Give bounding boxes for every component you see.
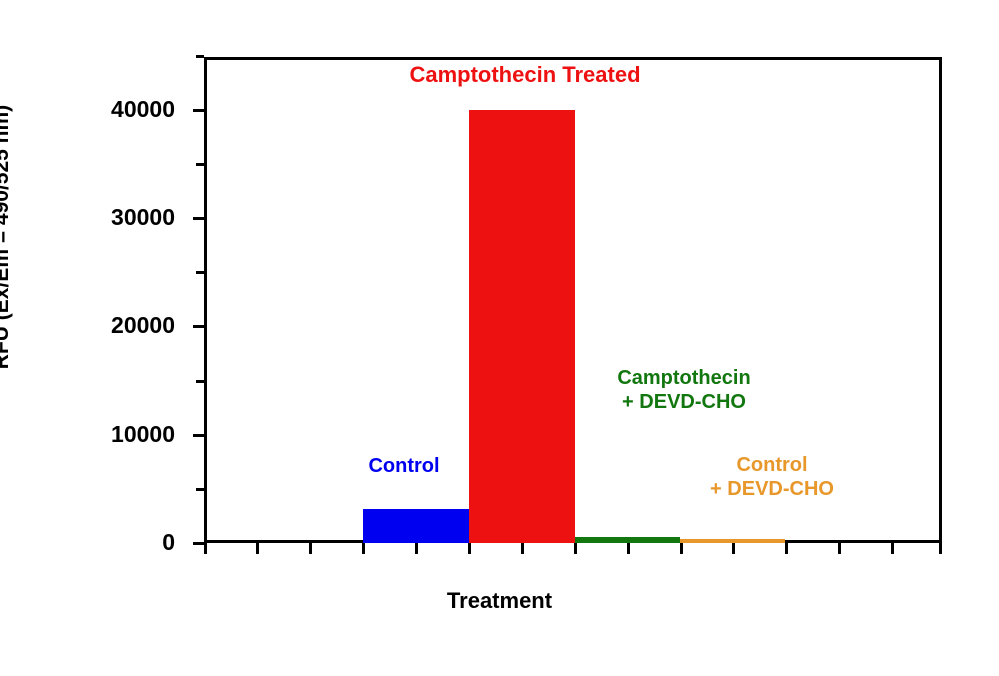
- y-minor-tick-35000: [196, 163, 204, 166]
- x-tick-4: [415, 543, 418, 554]
- y-minor-tick-15000: [196, 380, 204, 383]
- y-major-tick-0: [193, 542, 204, 545]
- y-tick-label-0: 0: [55, 531, 175, 554]
- series-label-camptothecin-devd-cho: Camptothecin + DEVD-CHO: [579, 367, 789, 414]
- x-tick-1: [256, 543, 259, 554]
- x-tick-10: [732, 543, 735, 554]
- x-tick-5: [468, 543, 471, 554]
- y-major-tick-20000: [193, 325, 204, 328]
- series-label-control-devd-cho: Control + DEVD-CHO: [672, 454, 872, 501]
- y-minor-tick-25000: [196, 271, 204, 274]
- y-major-tick-40000: [193, 109, 204, 112]
- x-tick-6: [521, 543, 524, 554]
- x-tick-9: [680, 543, 683, 554]
- y-minor-tick-5000: [196, 488, 204, 491]
- x-tick-8: [627, 543, 630, 554]
- series-label-control: Control: [286, 455, 522, 479]
- y-minor-tick-45000: [196, 55, 204, 58]
- bar-control: [363, 509, 469, 543]
- series-label-camptothecin-treated: Camptothecin Treated: [330, 62, 720, 88]
- x-tick-3: [362, 543, 365, 554]
- y-tick-label-30000: 30000: [55, 206, 175, 229]
- x-tick-11: [785, 543, 788, 554]
- x-tick-13: [891, 543, 894, 554]
- y-major-tick-10000: [193, 434, 204, 437]
- y-tick-label-40000: 40000: [55, 98, 175, 121]
- x-tick-12: [838, 543, 841, 554]
- y-tick-label-20000: 20000: [55, 314, 175, 337]
- y-tick-label-10000: 10000: [55, 423, 175, 446]
- x-tick-0: [204, 543, 207, 554]
- bar-chart-figure: RFU (Ex/Em = 490/525 nm) 40000 30000 200…: [0, 0, 999, 676]
- y-axis-title: RFU (Ex/Em = 490/525 nm): [0, 7, 14, 467]
- x-tick-14: [939, 543, 942, 554]
- x-tick-7: [574, 543, 577, 554]
- x-axis-title: Treatment: [0, 588, 999, 614]
- x-tick-2: [309, 543, 312, 554]
- y-major-tick-30000: [193, 217, 204, 220]
